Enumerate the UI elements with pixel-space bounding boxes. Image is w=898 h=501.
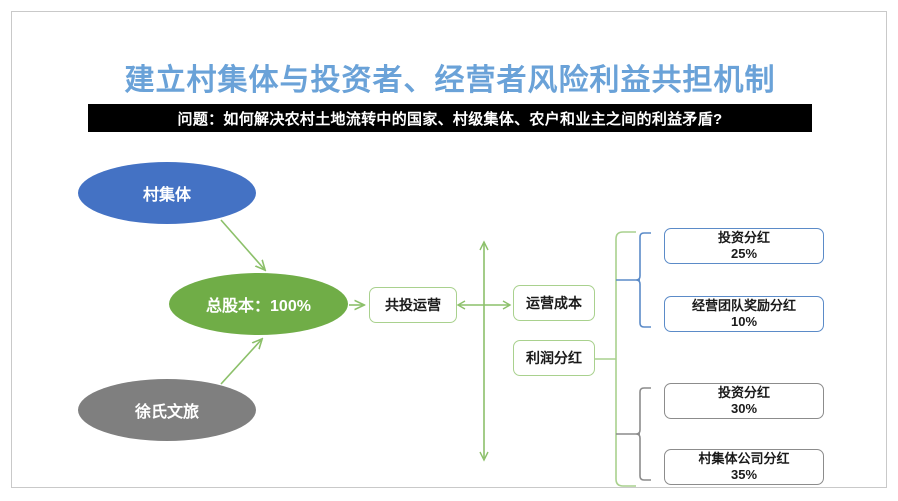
question-banner-text: 问题：如何解决农村土地流转中的国家、村级集体、农户和业主之间的利益矛盾? [178,108,723,129]
node-joint-operation[interactable]: 共投运营 [369,287,457,323]
dividend-box-investment-30[interactable]: 投资分红 30% [664,383,824,419]
node-operating-cost-label: 运营成本 [526,293,582,313]
page-title: 建立村集体与投资者、经营者风险利益共担机制 [12,55,887,99]
vertical-arrow-head-up [480,242,488,250]
dividend-box-investment-25[interactable]: 投资分红 25% [664,228,824,264]
dividend-box-team-incentive-10[interactable]: 经营团队奖励分红 10% [664,296,824,332]
horizontal-arrow-head-left [458,301,465,309]
node-village-collective[interactable]: 村集体 [78,162,256,224]
node-profit-dividend-label: 利润分红 [526,348,582,368]
node-total-capital-label: 总股本：100% [206,292,311,316]
dividend-label: 投资分红 [718,230,770,246]
dividend-box-village-company-35[interactable]: 村集体公司分红 35% [664,449,824,485]
dividend-percent: 10% [731,314,757,330]
node-profit-dividend[interactable]: 利润分红 [513,340,595,376]
dividend-percent: 30% [731,401,757,417]
node-xushi-culture-tourism-label: 徐氏文旅 [135,398,199,422]
dividend-label: 经营团队奖励分红 [692,298,796,314]
dividend-label: 村集体公司分红 [698,451,789,467]
blue-brace [616,233,651,327]
node-joint-operation-label: 共投运营 [385,295,441,315]
arrow-xushi-to-capital [221,339,262,384]
dividend-percent: 25% [731,246,757,262]
question-banner: 问题：如何解决农村土地流转中的国家、村级集体、农户和业主之间的利益矛盾? [88,104,812,132]
green-brace [595,232,636,486]
horizontal-arrow-head-right [503,301,510,309]
dividend-percent: 35% [731,467,757,483]
node-total-capital[interactable]: 总股本：100% [169,273,348,335]
node-village-collective-label: 村集体 [143,181,191,205]
arrow-village-to-capital [221,220,265,270]
gray-brace [616,388,651,480]
dividend-label: 投资分红 [718,385,770,401]
node-operating-cost[interactable]: 运营成本 [513,285,595,321]
node-xushi-culture-tourism[interactable]: 徐氏文旅 [78,379,256,441]
vertical-arrow-head-down [480,452,488,460]
slide-canvas: 建立村集体与投资者、经营者风险利益共担机制 问题：如何解决农村土地流转中的国家、… [11,11,887,488]
